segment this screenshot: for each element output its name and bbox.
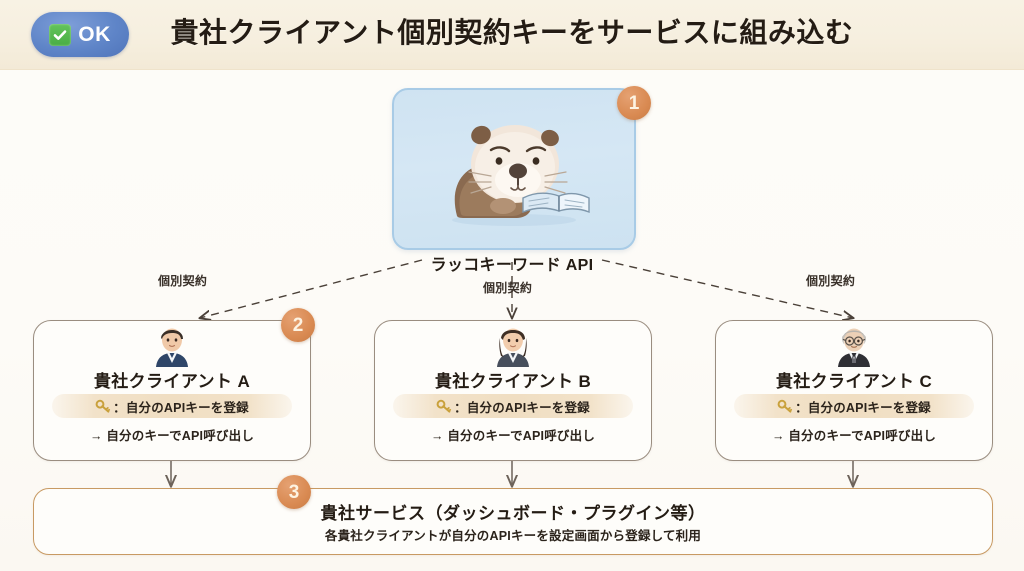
step-badge-3: 3: [277, 475, 311, 509]
key-icon: [777, 398, 793, 414]
woman-office-worker-avatar: [492, 325, 534, 367]
api-key-text-c: ：自分のAPIキーを登録: [795, 397, 931, 416]
api-call-text-b: → 自分のキーでAPI呼び出し: [375, 425, 651, 444]
api-key-pill-a: ：自分のAPIキーを登録: [52, 394, 292, 418]
client-title-b: 貴社クライアント B: [375, 367, 651, 392]
api-call-text-c: → 自分のキーでAPI呼び出し: [716, 425, 992, 444]
edge-label-contract-b: 個別契約: [483, 279, 532, 296]
slide-canvas: OK 貴社クライアント個別契約キーをサービスに組み込む 個別契約 個別契約 個別…: [0, 0, 1024, 571]
api-key-pill-b: ：自分のAPIキーを登録: [393, 394, 633, 418]
client-card-c[interactable]: 貴社クライアント C ：自分のAPIキーを登録 → 自分のキーでAPI呼び出し: [715, 320, 993, 461]
client-card-a[interactable]: 貴社クライアント A ：自分のAPIキーを登録 → 自分のキーでAPI呼び出し: [33, 320, 311, 461]
key-icon: [95, 398, 111, 414]
step-badge-1: 1: [617, 86, 651, 120]
api-key-text-b: ：自分のAPIキーを登録: [454, 397, 590, 416]
service-subtitle: 各貴社クライアントが自分のAPIキーを設定画面から登録して利用: [34, 525, 992, 544]
edge-label-contract-c: 個別契約: [806, 272, 855, 289]
page-title: 貴社クライアント個別契約キーをサービスに組み込む: [0, 15, 1024, 51]
api-key-text-a: ：自分のAPIキーを登録: [113, 397, 249, 416]
older-man-office-worker-avatar: [833, 325, 875, 367]
step-badge-2: 2: [281, 308, 315, 342]
client-title-c: 貴社クライアント C: [716, 367, 992, 392]
api-key-pill-c: ：自分のAPIキーを登録: [734, 394, 974, 418]
man-office-worker-avatar: [151, 325, 193, 367]
service-card[interactable]: 貴社サービス（ダッシュボード・プラグイン等） 各貴社クライアントが自分のAPIキ…: [33, 488, 993, 555]
key-icon: [436, 398, 452, 414]
client-title-a: 貴社クライアント A: [34, 367, 310, 392]
api-node-card[interactable]: [392, 88, 636, 250]
service-title: 貴社サービス（ダッシュボード・プラグイン等）: [34, 499, 992, 524]
otter-reading-book-illustration: [419, 112, 609, 232]
client-card-b[interactable]: 貴社クライアント B ：自分のAPIキーを登録 → 自分のキーでAPI呼び出し: [374, 320, 652, 461]
api-call-text-a: → 自分のキーでAPI呼び出し: [34, 425, 310, 444]
edge-label-contract-a: 個別契約: [158, 272, 207, 289]
api-node-label: ラッコキーワード API: [392, 251, 632, 275]
